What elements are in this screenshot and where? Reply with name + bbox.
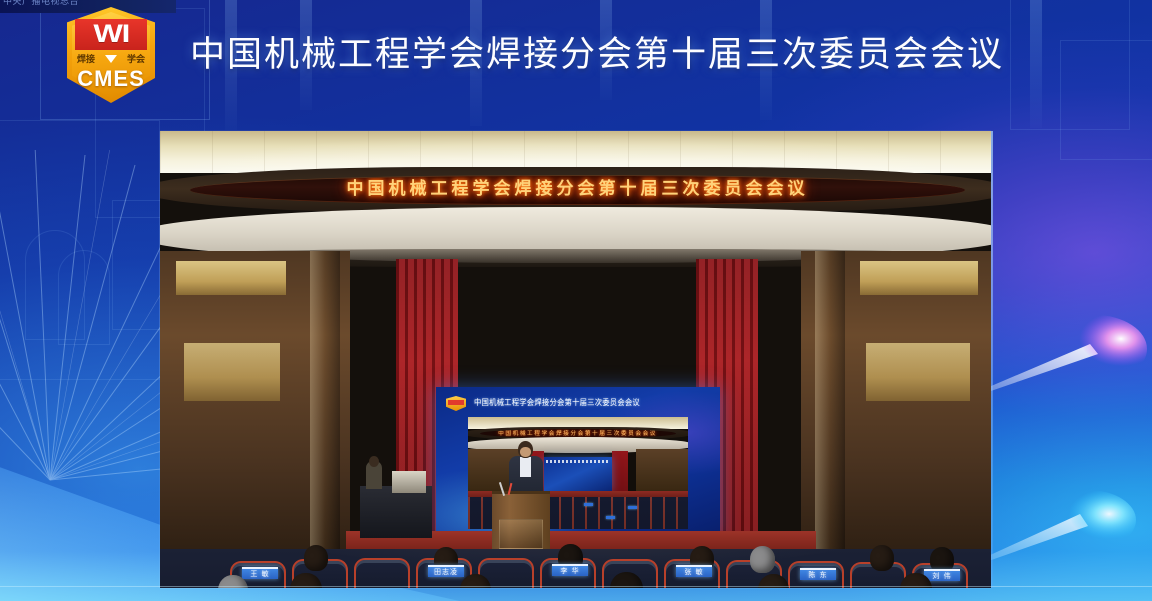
logo-acronym: CMES bbox=[67, 67, 155, 91]
nameplate: 李 华 bbox=[552, 564, 588, 576]
led-banner: 中国机械工程学会焊接分会第十届三次委员会会议 bbox=[190, 175, 965, 205]
background-geometry-arch-1 bbox=[25, 230, 85, 340]
speaker-face bbox=[520, 447, 531, 457]
photograph-right-rim bbox=[991, 131, 993, 588]
nested-wall-right bbox=[636, 449, 688, 497]
slide-header: 中央广播电视总台 WI 焊接 学会 CMES 中国机械工程学会焊接分会第十届三次… bbox=[0, 0, 1152, 112]
presentation-slide: 中央广播电视总台 WI 焊接 学会 CMES 中国机械工程学会焊接分会第十届三次… bbox=[0, 0, 1152, 601]
nested-led-banner-text: 中国机械工程学会焊接分会第十届三次委员会会议 bbox=[499, 430, 658, 437]
nameplate: 刘 伟 bbox=[924, 569, 960, 581]
nested-nameplate bbox=[628, 506, 637, 509]
logo-triangle-icon bbox=[105, 55, 117, 63]
logo-chinese-row: 焊接 学会 bbox=[75, 51, 147, 67]
channel-strip-label: 中央广播电视总台 bbox=[0, 0, 176, 6]
nameplate-text: 田志凌 bbox=[434, 567, 458, 577]
hall-lit-panel-right bbox=[860, 261, 978, 295]
nested-nameplate bbox=[584, 503, 593, 506]
nameplate-text: 王 敏 bbox=[250, 569, 269, 579]
hall-pillar-right bbox=[815, 251, 845, 551]
nameplate: 田志凌 bbox=[428, 565, 464, 577]
logo-label-right: 学会 bbox=[127, 54, 145, 64]
nameplate-text: 李 华 bbox=[560, 566, 579, 576]
stage-screen-logo-band bbox=[448, 400, 464, 405]
hall-lit-panel-left bbox=[176, 261, 286, 295]
audience-head bbox=[870, 545, 894, 571]
logo-wi-mark: WI bbox=[93, 22, 129, 47]
nested-screen-text-line bbox=[546, 460, 610, 463]
stage-screen-title: 中国机械工程学会焊接分会第十届三次委员会会议 bbox=[474, 397, 693, 409]
page-title: 中国机械工程学会焊接分会第十届三次委员会会议 bbox=[190, 30, 1004, 80]
speaker-shirt bbox=[520, 457, 531, 477]
logo-label-left: 焊接 bbox=[77, 54, 95, 64]
cmes-welding-society-logo: WI 焊接 学会 CMES bbox=[67, 7, 155, 103]
nested-projection-screen bbox=[544, 457, 612, 491]
background-geometry-arch-2 bbox=[58, 250, 110, 345]
podium-front-panel bbox=[499, 519, 543, 549]
nested-nameplate bbox=[606, 516, 615, 519]
logo-red-band: WI bbox=[75, 19, 147, 50]
nameplate: 陈 东 bbox=[800, 568, 836, 580]
audience-head bbox=[750, 546, 775, 573]
stage-projection-screen: 中国机械工程学会焊接分会第十届三次委员会会议 中国机械工程学会焊接分会第十届三次… bbox=[436, 387, 720, 539]
nameplate: 王 敏 bbox=[242, 567, 278, 579]
background-geometry-rect-3 bbox=[0, 120, 160, 380]
nameplate-text: 张 敏 bbox=[684, 567, 703, 577]
audience-seat bbox=[354, 558, 410, 588]
av-equipment-table bbox=[360, 486, 432, 538]
hall-lit-panel-left-2 bbox=[184, 343, 280, 401]
nameplate-text: 陈 东 bbox=[808, 570, 827, 580]
av-equipment-case bbox=[392, 471, 426, 493]
hall-lit-panel-right-2 bbox=[866, 343, 970, 401]
conference-hall-photograph: 中国机械工程学会焊接分会第十届三次委员会会议 中国机械工程学会焊接分会第十届三次… bbox=[160, 131, 991, 588]
hall-pillar-left bbox=[310, 251, 340, 551]
av-operator-head bbox=[369, 456, 379, 467]
nameplate: 张 敏 bbox=[676, 565, 712, 577]
audience-head bbox=[304, 545, 328, 571]
led-banner-text: 中国机械工程学会焊接分会第十届三次委员会会议 bbox=[347, 180, 809, 199]
nameplate-text: 刘 伟 bbox=[932, 571, 951, 581]
